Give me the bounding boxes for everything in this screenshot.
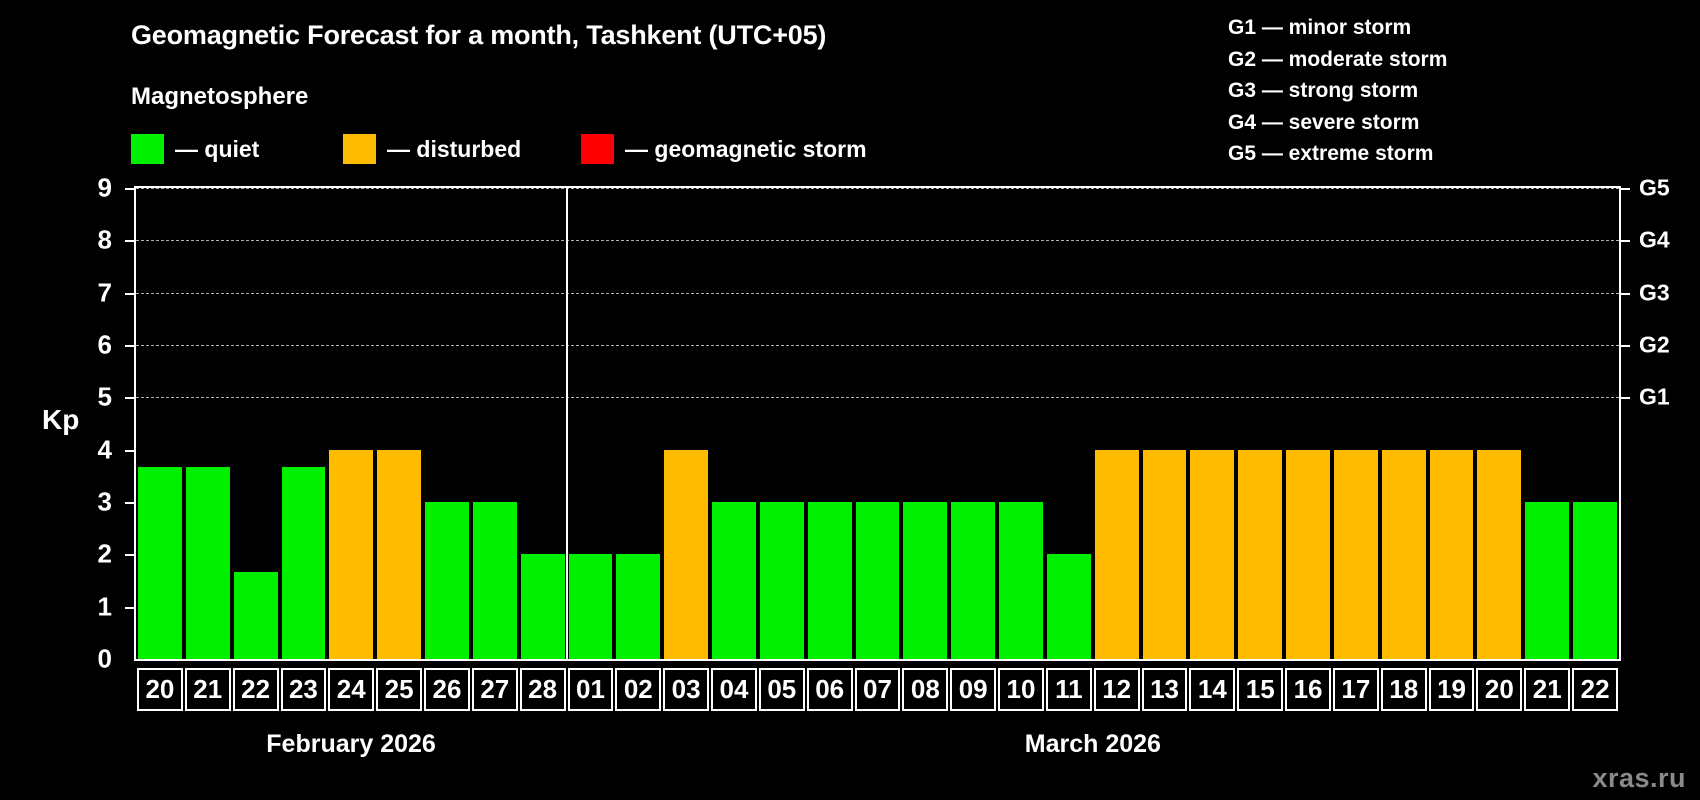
g-tick-mark-G4 [1621,240,1630,242]
month-divider [566,188,568,659]
g-tick-label-G2: G2 [1639,332,1670,359]
bar-february-28 [521,554,565,659]
month-caption-february: February 2026 [266,730,436,759]
y-tick-label-3: 3 [78,487,112,518]
day-label-february-25: 25 [376,668,422,711]
bar-february-24 [329,450,373,659]
bar-february-22 [234,572,278,659]
day-label-february-27: 27 [472,668,518,711]
gscale-row-g4: G4 — severe storm [1228,107,1447,139]
bar-march-16 [1286,450,1330,659]
day-label-march-03: 03 [663,668,709,711]
day-label-march-18: 18 [1381,668,1427,711]
day-label-february-22: 22 [233,668,279,711]
day-label-march-21: 21 [1524,668,1570,711]
day-label-march-20: 20 [1476,668,1522,711]
bar-march-08 [903,502,947,659]
bar-march-17 [1334,450,1378,659]
day-label-february-21: 21 [185,668,231,711]
bar-march-14 [1190,450,1234,659]
y-tick-mark-6 [125,345,134,347]
bar-february-25 [377,450,421,659]
y-tick-label-4: 4 [78,434,112,465]
bar-march-09 [951,502,995,659]
gscale-legend: G1 — minor stormG2 — moderate stormG3 — … [1228,12,1447,170]
y-tick-mark-4 [125,450,134,452]
bar-march-15 [1238,450,1282,659]
bar-march-01 [569,554,613,659]
bar-march-11 [1047,554,1091,659]
day-label-march-04: 04 [711,668,757,711]
g-tick-mark-G2 [1621,345,1630,347]
plot-area [134,186,1621,661]
watermark: xras.ru [1592,763,1686,794]
y-tick-label-5: 5 [78,382,112,413]
bar-march-20 [1477,450,1521,659]
day-label-march-09: 09 [950,668,996,711]
day-label-march-19: 19 [1429,668,1475,711]
legend-label: — disturbed [387,136,521,163]
bar-series [136,188,1619,659]
day-label-row: 2021222324252627280102030405060708091011… [0,668,1700,711]
y-tick-label-1: 1 [78,591,112,622]
gscale-row-g1: G1 — minor storm [1228,12,1447,44]
chart-page: Geomagnetic Forecast for a month, Tashke… [0,0,1700,800]
bar-march-02 [616,554,660,659]
day-label-march-14: 14 [1189,668,1235,711]
legend-label: — geomagnetic storm [625,136,867,163]
day-label-february-26: 26 [424,668,470,711]
y-tick-mark-5 [125,397,134,399]
bar-february-23 [282,467,326,659]
y-tick-label-8: 8 [78,225,112,256]
bar-march-18 [1382,450,1426,659]
g-tick-mark-G1 [1621,397,1630,399]
bar-march-12 [1095,450,1139,659]
legend-item-disturbed: — disturbed [343,132,521,166]
day-label-march-11: 11 [1046,668,1092,711]
day-label-march-13: 13 [1142,668,1188,711]
bar-march-06 [808,502,852,659]
bar-february-20 [138,467,182,659]
bar-march-21 [1525,502,1569,659]
y-tick-label-7: 7 [78,277,112,308]
bar-march-13 [1143,450,1187,659]
y-tick-label-9: 9 [78,173,112,204]
day-label-march-17: 17 [1333,668,1379,711]
day-label-march-07: 07 [855,668,901,711]
g-tick-label-G5: G5 [1639,175,1670,202]
month-caption-march: March 2026 [1025,730,1161,759]
day-label-march-08: 08 [902,668,948,711]
bar-march-07 [856,502,900,659]
y-tick-mark-8 [125,240,134,242]
y-tick-mark-9 [125,188,134,190]
day-label-march-16: 16 [1285,668,1331,711]
day-label-march-05: 05 [759,668,805,711]
gscale-row-g5: G5 — extreme storm [1228,138,1447,170]
legend-label: — quiet [175,136,259,163]
day-label-march-15: 15 [1237,668,1283,711]
day-label-march-22: 22 [1572,668,1618,711]
orange-square-icon [343,134,376,164]
green-square-icon [131,134,164,164]
bar-march-05 [760,502,804,659]
bar-march-19 [1430,450,1474,659]
day-label-march-01: 01 [568,668,614,711]
bar-march-22 [1573,502,1617,659]
bar-february-21 [186,467,230,659]
bar-february-27 [473,502,517,659]
bar-march-04 [712,502,756,659]
day-label-march-02: 02 [615,668,661,711]
bar-february-26 [425,502,469,659]
g-tick-label-G1: G1 [1639,384,1670,411]
day-label-march-06: 06 [807,668,853,711]
g-tick-label-G3: G3 [1639,279,1670,306]
g-tick-mark-G5 [1621,188,1630,190]
y-tick-label-2: 2 [78,539,112,570]
legend-item-geomagnetic-storm: — geomagnetic storm [581,132,867,166]
bar-march-03 [664,450,708,659]
red-square-icon [581,134,614,164]
page-title: Geomagnetic Forecast for a month, Tashke… [131,20,826,51]
chart-subtitle: Magnetosphere [131,83,308,111]
y-tick-mark-3 [125,502,134,504]
g-tick-label-G4: G4 [1639,227,1670,254]
day-label-february-20: 20 [137,668,183,711]
gscale-row-g3: G3 — strong storm [1228,75,1447,107]
gscale-row-g2: G2 — moderate storm [1228,44,1447,76]
y-tick-mark-7 [125,293,134,295]
day-label-february-24: 24 [328,668,374,711]
legend-item-quiet: — quiet [131,132,259,166]
g-tick-mark-G3 [1621,293,1630,295]
y-tick-label-6: 6 [78,330,112,361]
y-axis-title: Kp [42,404,79,436]
day-label-february-23: 23 [281,668,327,711]
day-label-march-12: 12 [1094,668,1140,711]
bar-march-10 [999,502,1043,659]
y-tick-mark-1 [125,607,134,609]
day-label-march-10: 10 [998,668,1044,711]
y-tick-mark-2 [125,554,134,556]
day-label-february-28: 28 [520,668,566,711]
